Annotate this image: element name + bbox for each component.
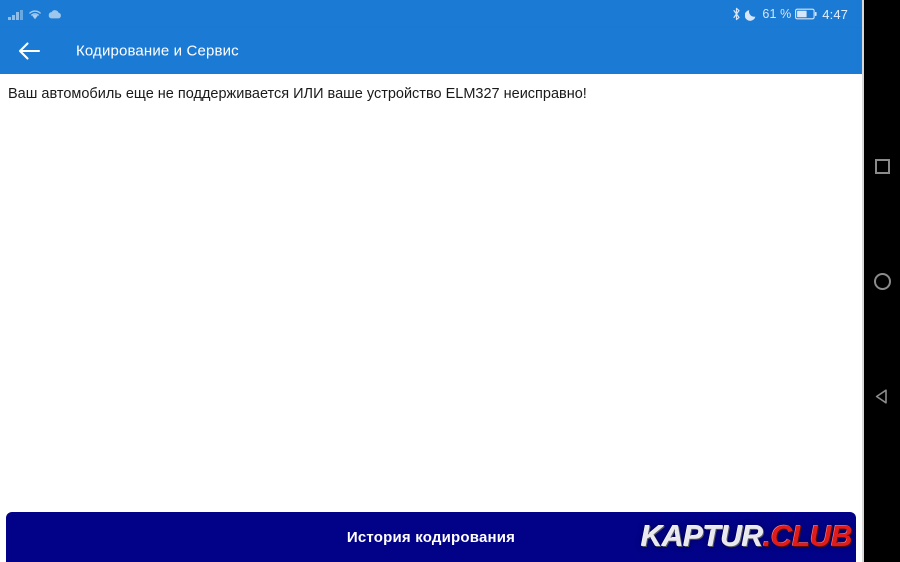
recents-square-icon[interactable] [864, 148, 900, 184]
main-content: Ваш автомобиль еще не поддерживается ИЛИ… [0, 74, 862, 512]
square-shape [875, 159, 890, 174]
app-bar: Кодирование и Сервис [0, 28, 862, 74]
back-triangle-icon[interactable] [864, 378, 900, 414]
android-navigation-bar [862, 0, 900, 562]
circle-shape [874, 273, 891, 290]
back-arrow-icon[interactable] [12, 34, 46, 68]
status-bar: 61 % 4:47 [0, 0, 862, 28]
battery-percent-label: 61 % [762, 7, 791, 21]
phone-screenshot: 61 % 4:47 Кодирование и Сервис [0, 0, 900, 562]
signal-bars-icon [8, 9, 23, 20]
cloud-icon [47, 9, 63, 20]
coding-history-button[interactable]: История кодирования [6, 512, 856, 562]
status-bar-left-icons [8, 0, 63, 28]
home-circle-icon[interactable] [864, 263, 900, 299]
status-bar-clock: 4:47 [822, 7, 848, 22]
wifi-icon [28, 8, 42, 20]
bluetooth-icon [732, 7, 741, 21]
status-message: Ваш автомобиль еще не поддерживается ИЛИ… [8, 84, 587, 104]
status-bar-right-icons: 61 % 4:47 [732, 0, 848, 28]
page-title: Кодирование и Сервис [76, 43, 239, 60]
moon-icon [745, 8, 758, 21]
phone-content-area: 61 % 4:47 Кодирование и Сервис [0, 0, 862, 562]
battery-icon [795, 8, 817, 20]
